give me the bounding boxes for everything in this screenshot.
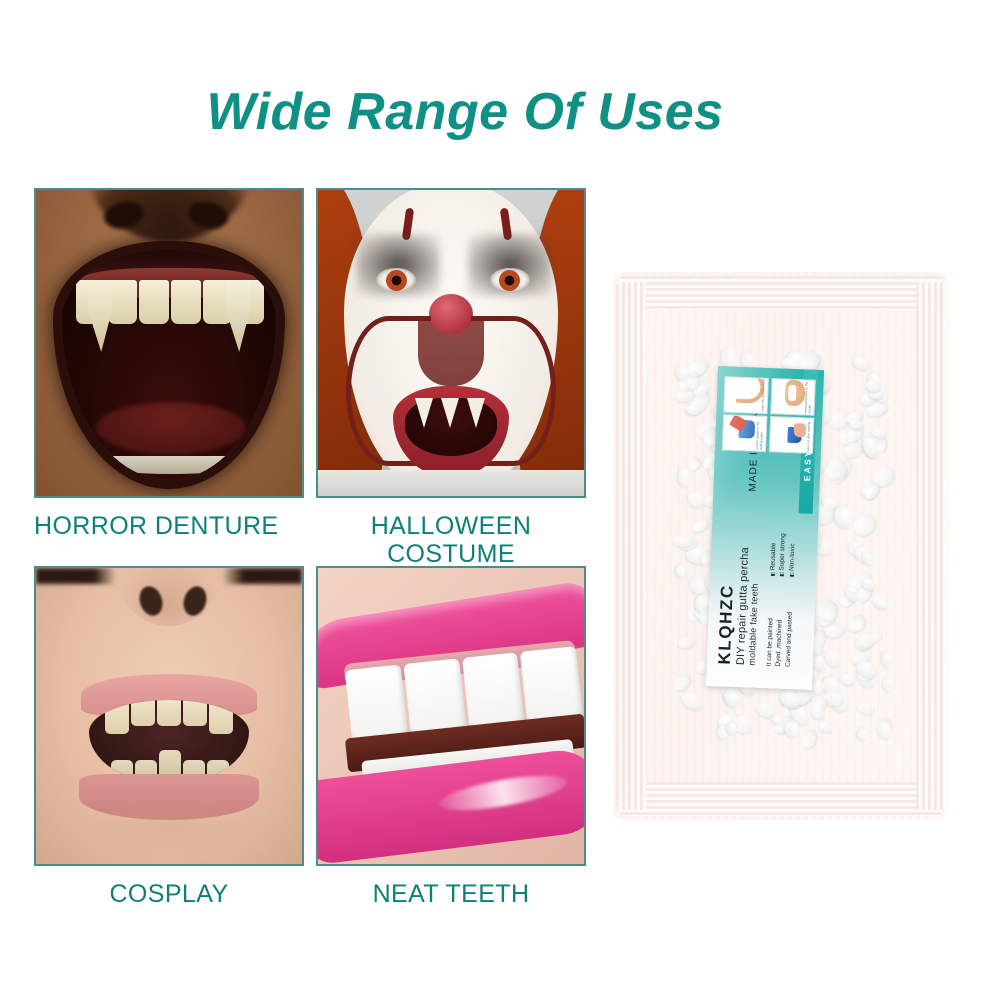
open-mouth (62, 250, 276, 480)
step-panel-2: take out after melting (769, 416, 814, 454)
bag-seal-top (620, 276, 942, 310)
bead (880, 676, 896, 694)
iris-right (499, 270, 520, 291)
product-label-content: KLQHZC DIY repair gutta percha moldable … (706, 366, 824, 690)
bead (821, 601, 838, 622)
use-case-collage: HORROR DENTURE (34, 188, 594, 908)
use-case-card-neat-teeth: NEAT TEETH (316, 566, 586, 908)
step-caption: take out after melting (807, 418, 812, 452)
collar (318, 470, 584, 496)
bag-seal-bottom (620, 782, 942, 816)
step-panel-4: wearing denture to the mouth (770, 378, 815, 416)
bead (871, 427, 887, 440)
photo-pink-lips-white-teeth (316, 566, 586, 866)
tongue (96, 402, 246, 454)
bead (817, 720, 835, 735)
fang-right (226, 280, 250, 352)
bead (857, 727, 868, 741)
step-panel-3: make the denture mold (723, 376, 768, 414)
product-package-photo: KLQHZC DIY repair gutta percha moldable … (614, 272, 948, 820)
use-case-card-horror-denture: HORROR DENTURE (34, 188, 304, 540)
upper-teeth-row (105, 700, 233, 726)
feature-item: Non-toxic (787, 534, 798, 578)
bead (854, 700, 876, 718)
bead (691, 516, 711, 534)
clown-nose (429, 294, 473, 334)
product-tagline-line2: moldable fake teeth (747, 583, 760, 666)
bead (849, 510, 879, 539)
product-label: KLQHZC DIY repair gutta percha moldable … (706, 366, 824, 690)
pointed-tooth (415, 398, 433, 428)
photo-clown-makeup-face (316, 188, 586, 498)
use-case-caption: HALLOWEEN COSTUME (316, 512, 586, 568)
feature-list-right: Reusable Super strong Non-toxic (768, 533, 798, 577)
bead (824, 690, 844, 706)
bead (822, 646, 846, 671)
feature-item: Carved and pasted (784, 612, 796, 667)
bead (679, 689, 706, 713)
page-title: Wide Range Of Uses (0, 82, 930, 142)
fang-left (88, 280, 112, 352)
use-case-card-halloween-costume: HALLOWEEN COSTUME (316, 188, 586, 568)
bead (800, 728, 819, 750)
feature-list-left: It can be painted Dyed ,machined Carved … (765, 611, 795, 667)
step-panel-1: put the beads in the boiling water (722, 414, 767, 452)
bead (676, 467, 692, 489)
bead (688, 456, 702, 471)
take-out-icon (773, 420, 810, 449)
bead (854, 615, 864, 630)
iris-left (386, 270, 407, 291)
pointed-tooth (467, 398, 485, 428)
bag-seal-left (616, 282, 646, 810)
step-caption: wearing denture to the mouth (805, 379, 814, 413)
bead (857, 633, 875, 649)
denture-mold-icon (728, 380, 765, 409)
instruction-steps: put the beads in the boiling water make … (721, 372, 818, 454)
bead (875, 437, 888, 453)
bead (851, 353, 873, 373)
step-caption: make the denture mold (762, 378, 767, 412)
pointed-tooth (441, 398, 459, 428)
step-caption: put the beads in the boiling water (756, 416, 765, 450)
bead (672, 671, 693, 693)
use-case-caption: NEAT TEETH (316, 880, 586, 908)
chin-shadow (74, 798, 264, 858)
bead (677, 636, 695, 650)
bead (880, 650, 893, 668)
bag-seal-right (916, 282, 946, 810)
bead (870, 593, 890, 612)
bead (672, 533, 694, 546)
use-case-card-cosplay: COSPLAY (34, 566, 304, 908)
bead (674, 564, 687, 580)
bead (838, 672, 856, 688)
bead (861, 550, 877, 567)
photo-crooked-teeth-mouth (34, 566, 304, 866)
bead (862, 481, 881, 501)
open-mouth (89, 700, 249, 784)
use-case-caption: HORROR DENTURE (34, 512, 304, 540)
lower-teeth-row (102, 456, 240, 474)
use-case-caption: COSPLAY (34, 880, 304, 908)
photo-vampire-fangs-open-mouth (34, 188, 304, 498)
